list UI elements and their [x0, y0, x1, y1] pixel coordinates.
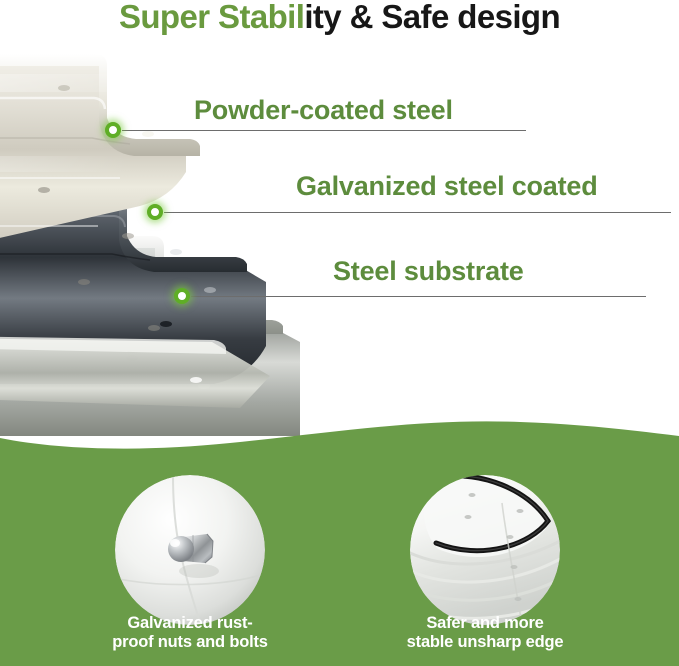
feature-caption-bolts-line1: Galvanized rust- [60, 614, 320, 633]
leader-line-galvanized-steel-coated [164, 212, 671, 213]
feature-caption-edge-line2: stable unsharp edge [355, 633, 615, 652]
callout-label-powder-coated-steel: Powder-coated steel [194, 95, 453, 126]
leader-line-powder-coated-steel [122, 130, 526, 131]
marker-powder-coated-steel[interactable] [105, 122, 121, 138]
feature-caption-bolts: Galvanized rust- proof nuts and bolts [60, 614, 320, 652]
dome-nut [168, 534, 213, 563]
photo-bolt-detail [115, 475, 265, 625]
page-title: Super Stability & Safe design [0, 0, 679, 36]
infographic-canvas: Super Stability & Safe design [0, 0, 679, 666]
photo-rolled-edge-detail [410, 475, 560, 625]
feature-caption-bolts-line2: proof nuts and bolts [60, 633, 320, 652]
marker-galvanized-steel-coated[interactable] [147, 204, 163, 220]
feature-caption-edge: Safer and more stable unsharp edge [355, 614, 615, 652]
callout-label-steel-substrate: Steel substrate [333, 256, 524, 287]
page-title-black-part: ity & Safe design [304, 0, 560, 35]
feature-caption-edge-line1: Safer and more [355, 614, 615, 633]
marker-steel-substrate[interactable] [174, 288, 190, 304]
callout-label-galvanized-steel-coated: Galvanized steel coated [296, 171, 598, 202]
page-title-green-part: Super Stabil [119, 0, 304, 35]
leader-line-steel-substrate [191, 296, 646, 297]
